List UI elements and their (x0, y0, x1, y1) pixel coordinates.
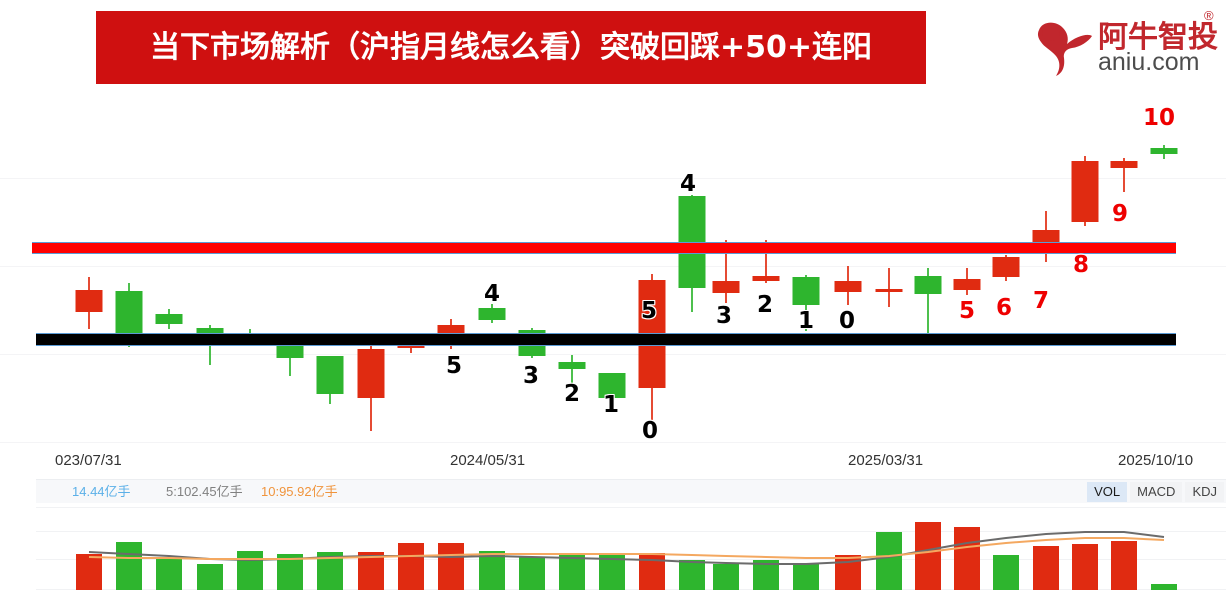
volume-bar (713, 564, 739, 590)
candle-body (156, 314, 183, 324)
count-label-9: 2 (757, 294, 773, 317)
count-label-6: 5 (641, 300, 657, 323)
legend-vol-ma10: 10:95.92亿手 (261, 483, 338, 501)
page-header: 当下市场解析（沪指月线怎么看）突破回踩+50+连阳 阿牛智投 ® aniu.co… (0, 0, 1226, 96)
price-chart-panel[interactable]: 5432105432105678910 (0, 96, 1226, 452)
volume-bar (993, 555, 1019, 590)
axis-date-3: 2025/10/10 (1118, 452, 1193, 469)
brand-logo: 阿牛智投 ® aniu.com (1036, 10, 1218, 84)
volume-bar (156, 559, 182, 590)
count-label-10: 1 (798, 310, 814, 333)
registered-mark-icon: ® (1204, 8, 1214, 23)
count-label-17: 10 (1143, 107, 1175, 130)
count-label-0: 5 (446, 355, 462, 378)
count-label-15: 8 (1073, 254, 1089, 277)
count-label-1: 4 (484, 283, 500, 306)
count-label-2: 3 (523, 365, 539, 388)
axis-date-1: 2024/05/31 (450, 452, 525, 469)
volume-bar (1111, 541, 1137, 590)
volume-bar (793, 563, 819, 590)
candle-body (76, 290, 103, 312)
volume-chart-panel[interactable] (0, 503, 1226, 597)
candle-body (993, 257, 1020, 277)
candle-body (793, 277, 820, 305)
candle-body (1072, 161, 1099, 222)
count-label-8: 3 (716, 305, 732, 328)
logo-domain: aniu.com (1098, 48, 1199, 77)
candle-body (713, 281, 740, 293)
tab-kdj[interactable]: KDJ (1185, 482, 1224, 502)
candle-body (876, 289, 903, 292)
count-label-14: 7 (1033, 290, 1049, 313)
legend-vol-ma5: 5:102.45亿手 (166, 483, 243, 501)
volume-bar (1151, 584, 1177, 590)
count-label-11: 0 (839, 310, 855, 333)
count-label-4: 1 (603, 394, 619, 417)
candle-body (915, 276, 942, 294)
candle-body (835, 281, 862, 292)
volume-bar (954, 527, 980, 590)
x-axis: 023/07/31 2024/05/31 2025/03/31 2025/10/… (0, 452, 1226, 478)
axis-date-0: 023/07/31 (55, 452, 122, 469)
aniu-bull-mark-icon (1036, 16, 1094, 78)
page-title: 当下市场解析（沪指月线怎么看）突破回踩+50+连阳 (150, 33, 872, 63)
title-banner: 当下市场解析（沪指月线怎么看）突破回踩+50+连阳 (96, 11, 926, 84)
count-label-3: 2 (564, 383, 580, 406)
volume-bar (1033, 546, 1059, 590)
tab-macd[interactable]: MACD (1130, 482, 1182, 502)
kline-screenshot: 当下市场解析（沪指月线怎么看）突破回踩+50+连阳 阿牛智投 ® aniu.co… (0, 0, 1226, 597)
tab-vol[interactable]: VOL (1087, 482, 1127, 502)
volume-bar (237, 551, 263, 590)
candle-body (954, 279, 981, 290)
indicator-tabs[interactable]: VOL MACD KDJ (1087, 480, 1224, 504)
count-label-16: 9 (1112, 203, 1128, 226)
candle-wick (888, 268, 890, 307)
volume-bar (876, 532, 902, 590)
candle-body (479, 308, 506, 320)
candle-body (1111, 161, 1138, 168)
candle-body (753, 276, 780, 281)
volume-series (0, 503, 1226, 597)
volume-bar (679, 560, 705, 590)
count-label-7: 4 (680, 173, 696, 196)
count-label-5: 0 (642, 420, 658, 443)
volume-bar (915, 522, 941, 590)
volume-bar (639, 553, 665, 590)
axis-date-2: 2025/03/31 (848, 452, 923, 469)
candle-body (358, 349, 385, 398)
legend-vol-current: 14.44亿手 (72, 483, 131, 501)
volume-bar (519, 557, 545, 590)
volume-bar (438, 543, 464, 590)
candle-body (317, 356, 344, 394)
indicator-header: 14.44亿手 5:102.45亿手 10:95.92亿手 VOL MACD K… (36, 479, 1226, 505)
count-label-13: 6 (996, 297, 1012, 320)
candle-body (559, 362, 586, 369)
count-label-12: 5 (959, 300, 975, 323)
candle-body (1151, 148, 1178, 154)
volume-bar (76, 554, 102, 590)
resistance-line[interactable] (32, 242, 1176, 254)
volume-bar (197, 564, 223, 590)
volume-bar (116, 542, 142, 590)
volume-bar (398, 543, 424, 590)
volume-bar (1072, 544, 1098, 590)
support-line[interactable] (36, 333, 1176, 346)
